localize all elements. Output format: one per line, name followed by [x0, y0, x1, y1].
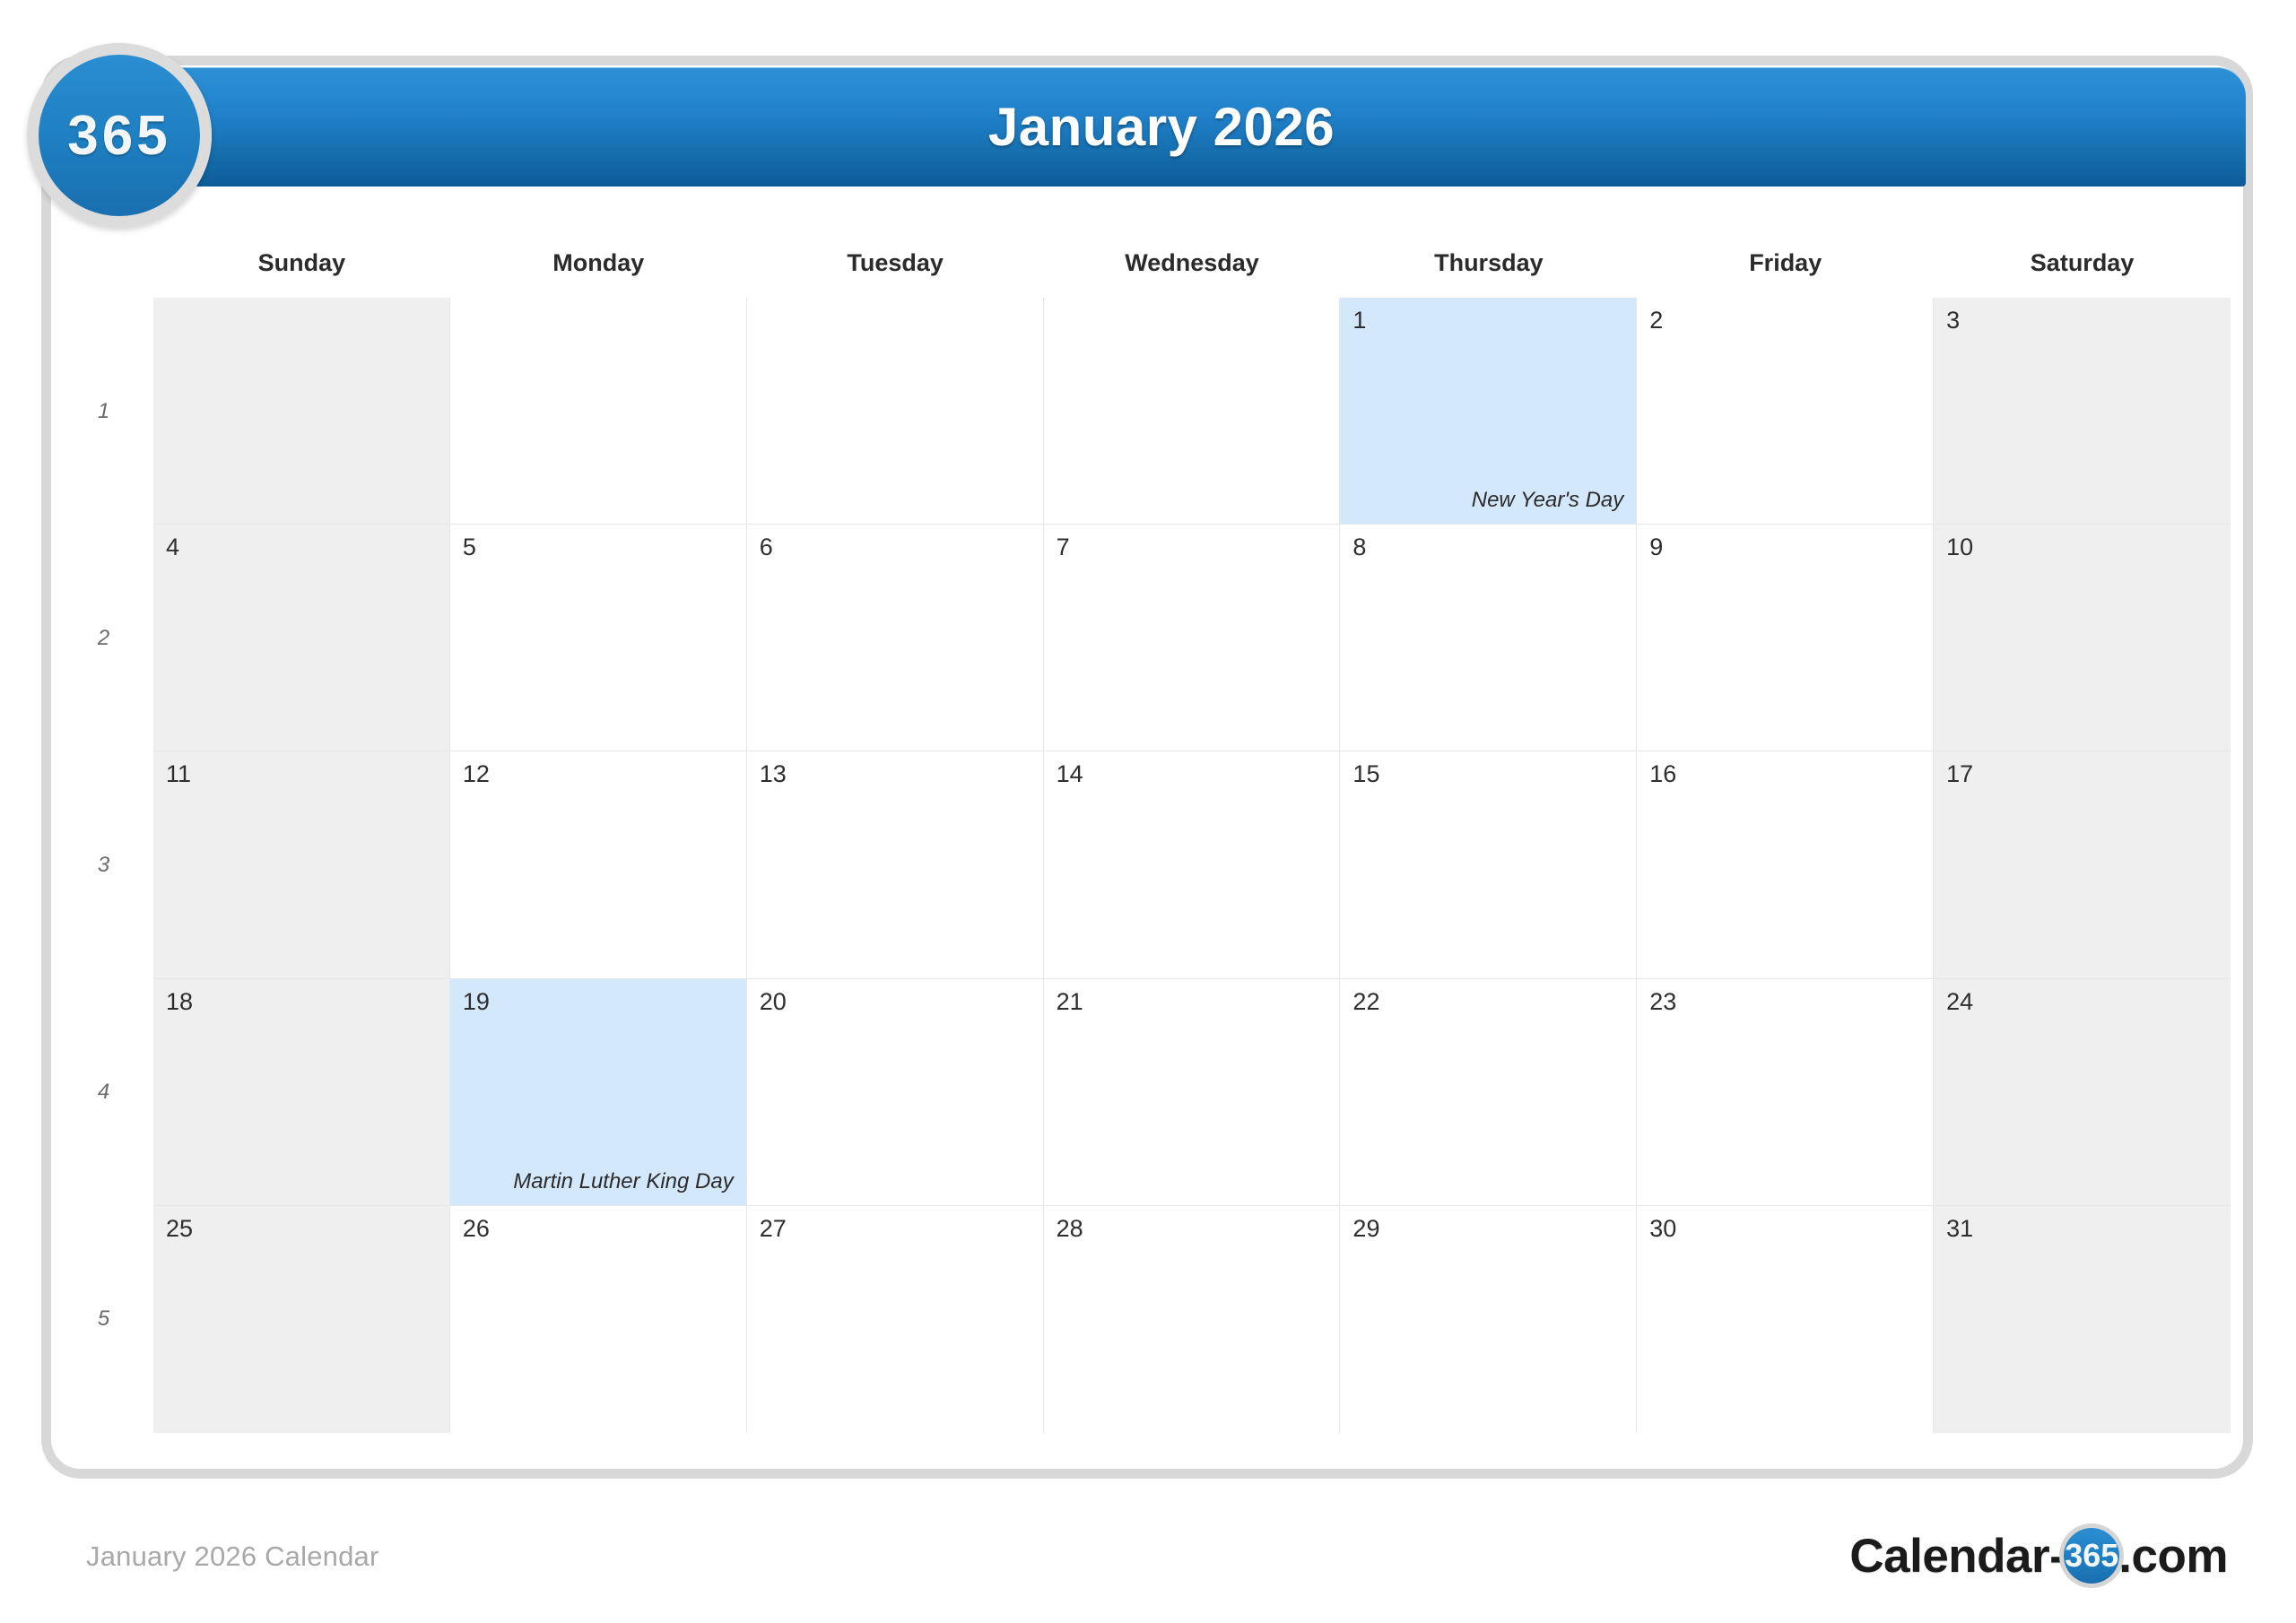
- day-number: 30: [1649, 1215, 1920, 1242]
- day-number: 2: [1649, 307, 1920, 334]
- day-cell[interactable]: 21: [1044, 979, 1341, 1206]
- holiday-label: New Year's Day: [1352, 488, 1623, 513]
- day-cell[interactable]: 24: [1934, 979, 2231, 1206]
- badge-label: 365: [67, 104, 170, 168]
- day-cell[interactable]: 28: [1044, 1206, 1341, 1433]
- day-cell[interactable]: 7: [1044, 525, 1341, 751]
- day-cell[interactable]: 3: [1934, 298, 2231, 525]
- weekday-header-thursday: Thursday: [1340, 247, 1637, 292]
- weekday-header-friday: Friday: [1637, 247, 1934, 292]
- week-number: 5: [54, 1206, 153, 1433]
- calendar-grid-wrapper: 365 1New Year's Day234567891011121314151…: [153, 298, 2231, 1433]
- day-number: 20: [760, 988, 1031, 1015]
- day-cell[interactable]: 8: [1340, 525, 1637, 751]
- day-number: 29: [1352, 1215, 1623, 1242]
- weekday-header-row: Sunday Monday Tuesday Wednesday Thursday…: [153, 247, 2231, 292]
- calendar-grid: 1New Year's Day2345678910111213141516171…: [153, 298, 2231, 1433]
- day-number: 9: [1649, 534, 1920, 560]
- weekday-header-wednesday: Wednesday: [1044, 247, 1341, 292]
- day-number: 16: [1649, 760, 1920, 787]
- footer-caption: January 2026 Calendar: [86, 1541, 378, 1573]
- day-cell[interactable]: 2: [1637, 298, 1934, 525]
- day-number: 4: [166, 534, 437, 560]
- day-cell[interactable]: 20: [747, 979, 1044, 1206]
- day-number: 23: [1649, 988, 1920, 1015]
- day-cell[interactable]: 11: [153, 751, 450, 978]
- day-cell[interactable]: 22: [1340, 979, 1637, 1206]
- day-cell-empty: [153, 298, 450, 525]
- day-cell[interactable]: 6: [747, 525, 1044, 751]
- day-number: 11: [166, 760, 437, 787]
- day-cell[interactable]: 17: [1934, 751, 2231, 978]
- day-number: 10: [1946, 534, 2218, 560]
- day-cell[interactable]: 9: [1637, 525, 1934, 751]
- logo-suffix: .com: [2118, 1529, 2228, 1584]
- day-number: 7: [1057, 534, 1327, 560]
- day-number: 6: [760, 534, 1031, 560]
- day-number: 25: [166, 1215, 437, 1242]
- logo-365-disc: 365: [2064, 1528, 2119, 1584]
- calendar-page: January 2026 365 Sunday Monday Tuesday W…: [0, 0, 2296, 1623]
- day-cell[interactable]: 31: [1934, 1206, 2231, 1433]
- calendar365-logo[interactable]: Calendar- 365 .com: [1849, 1524, 2228, 1587]
- weekday-header-tuesday: Tuesday: [747, 247, 1044, 292]
- day-cell[interactable]: 23: [1637, 979, 1934, 1206]
- day-number: 8: [1352, 534, 1623, 560]
- day-cell[interactable]: 30: [1637, 1206, 1934, 1433]
- day-number: 17: [1946, 760, 2218, 787]
- page-title: January 2026: [988, 96, 1335, 158]
- day-cell[interactable]: 4: [153, 525, 450, 751]
- day-number: 13: [760, 760, 1031, 787]
- day-cell[interactable]: 5: [450, 525, 747, 751]
- day-cell[interactable]: 12: [450, 751, 747, 978]
- day-number: 28: [1057, 1215, 1327, 1242]
- day-cell[interactable]: 29: [1340, 1206, 1637, 1433]
- day-number: 5: [463, 534, 734, 560]
- day-number: 19: [463, 988, 734, 1015]
- week-number: 4: [54, 979, 153, 1206]
- week-number-column: 1 2 3 4 5: [54, 298, 153, 1433]
- week-number: 1: [54, 298, 153, 525]
- weekday-header-monday: Monday: [450, 247, 747, 292]
- logo-prefix: Calendar-: [1849, 1529, 2065, 1584]
- day-number: 1: [1352, 307, 1623, 334]
- day-cell[interactable]: 13: [747, 751, 1044, 978]
- day-cell[interactable]: 1New Year's Day: [1340, 298, 1637, 525]
- day-cell-empty: [747, 298, 1044, 525]
- week-number: 3: [54, 751, 153, 978]
- day-number: 18: [166, 988, 437, 1015]
- day-number: 24: [1946, 988, 2218, 1015]
- day-number: 3: [1946, 307, 2218, 334]
- day-cell-empty: [1044, 298, 1341, 525]
- day-cell[interactable]: 25: [153, 1206, 450, 1433]
- holiday-label: Martin Luther King Day: [463, 1169, 734, 1194]
- week-number: 2: [54, 525, 153, 751]
- day-cell[interactable]: 26: [450, 1206, 747, 1433]
- day-number: 14: [1057, 760, 1327, 787]
- weekday-header-sunday: Sunday: [153, 247, 450, 292]
- day-number: 12: [463, 760, 734, 787]
- day-cell-empty: [450, 298, 747, 525]
- day-cell[interactable]: 10: [1934, 525, 2231, 751]
- day-number: 27: [760, 1215, 1031, 1242]
- brand-365-badge: 365: [27, 43, 212, 228]
- weekday-header-saturday: Saturday: [1934, 247, 2231, 292]
- day-cell[interactable]: 19Martin Luther King Day: [450, 979, 747, 1206]
- day-cell[interactable]: 16: [1637, 751, 1934, 978]
- logo-365-circle-icon: 365: [2059, 1523, 2124, 1588]
- badge-disc: 365: [39, 55, 200, 216]
- logo-365-label: 365: [2065, 1537, 2118, 1575]
- day-cell[interactable]: 15: [1340, 751, 1637, 978]
- day-number: 15: [1352, 760, 1623, 787]
- day-number: 21: [1057, 988, 1327, 1015]
- day-number: 22: [1352, 988, 1623, 1015]
- day-cell[interactable]: 14: [1044, 751, 1341, 978]
- day-number: 26: [463, 1215, 734, 1242]
- day-number: 31: [1946, 1215, 2218, 1242]
- day-cell[interactable]: 27: [747, 1206, 1044, 1433]
- month-header-bar: January 2026: [117, 67, 2246, 187]
- day-cell[interactable]: 18: [153, 979, 450, 1206]
